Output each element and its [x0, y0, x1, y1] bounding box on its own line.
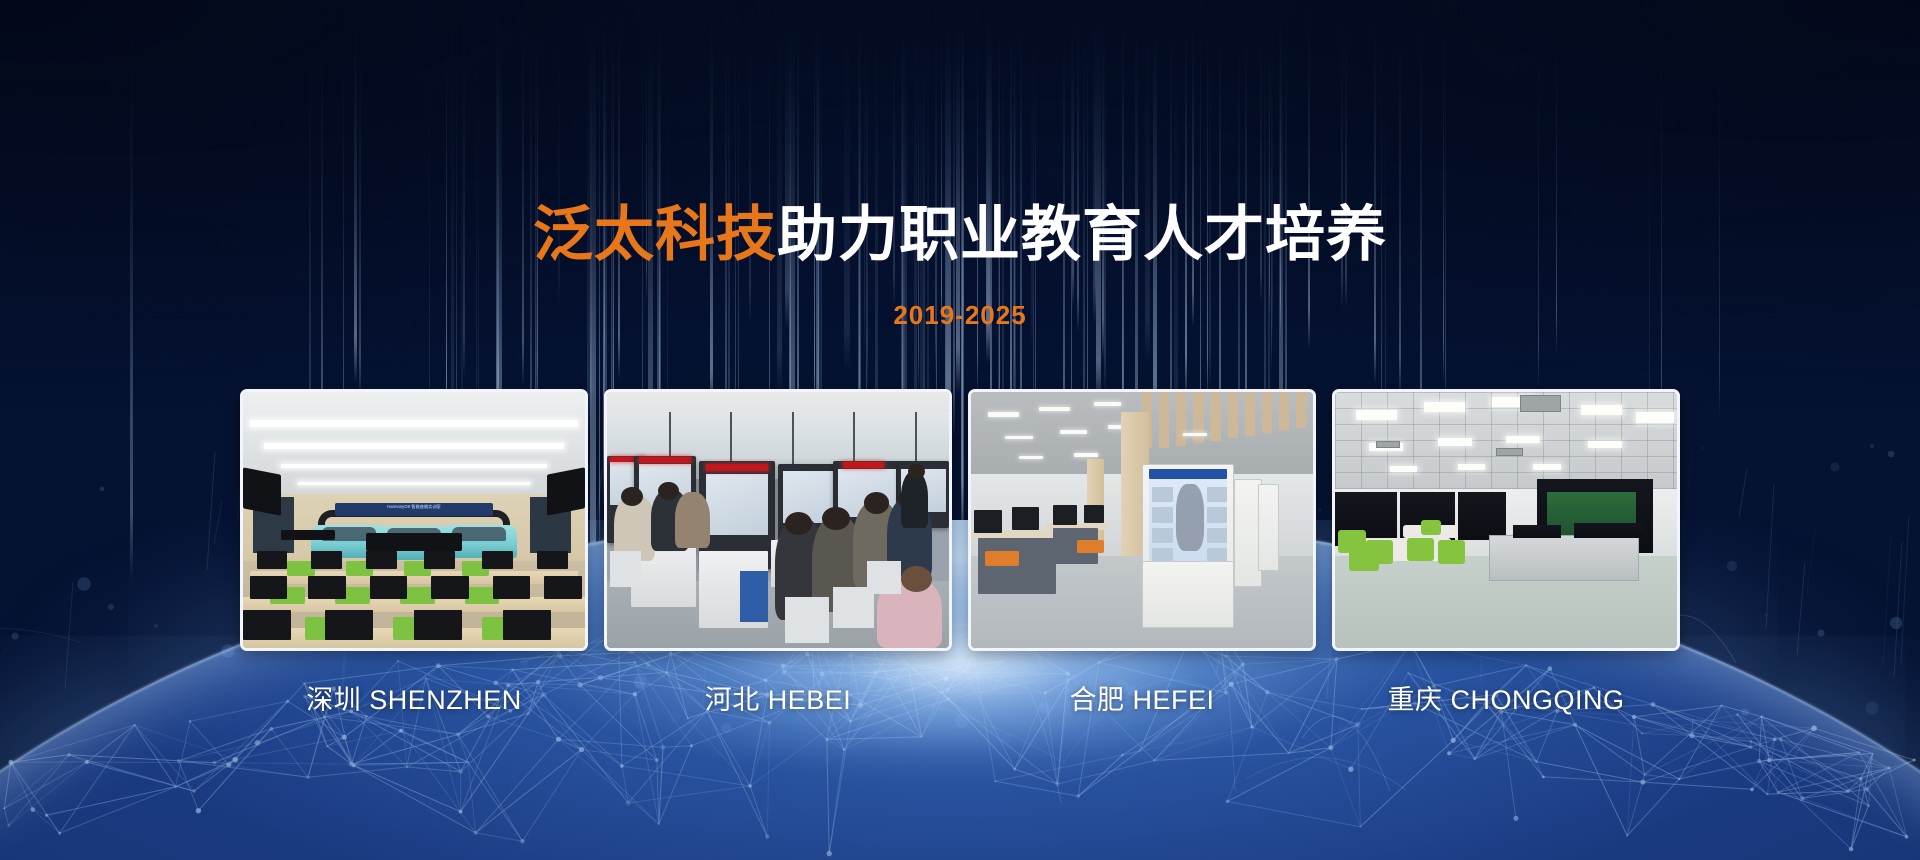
gallery-photo-hebei[interactable]	[604, 389, 952, 651]
caption-shenzhen: 深圳 SHENZHEN	[240, 678, 588, 724]
banner-content: 泛太科技助力职业教育人才培养 2019-2025 HarmonyOS 智能座舱实…	[0, 0, 1920, 860]
subtitle-year-range: 2019-2025	[0, 300, 1920, 331]
page-title: 泛太科技助力职业教育人才培养	[0, 205, 1920, 265]
photo-scene-hebei	[607, 392, 949, 648]
gallery-photo-chongqing[interactable]	[1332, 389, 1680, 651]
title-rest: 助力职业教育人才培养	[777, 201, 1387, 268]
caption-hebei: 河北 HEBEI	[604, 678, 952, 724]
photo-scene-shenzhen: HarmonyOS 智能座舱实训室	[243, 392, 585, 648]
photo-scene-chongqing	[1335, 392, 1677, 648]
caption-chongqing: 重庆 CHONGQING	[1332, 678, 1680, 724]
gallery-photo-hefei[interactable]	[968, 389, 1316, 651]
photo-captions: 深圳 SHENZHEN 河北 HEBEI 合肥 HEFEI 重庆 CHONGQI…	[240, 678, 1680, 724]
photo-gallery: HarmonyOS 智能座舱实训室	[240, 389, 1680, 651]
caption-hefei: 合肥 HEFEI	[968, 678, 1316, 724]
title-brand: 泛太科技	[533, 201, 777, 268]
gallery-photo-shenzhen[interactable]: HarmonyOS 智能座舱实训室	[240, 389, 588, 651]
photo1-banner-text: HarmonyOS 智能座舱实训室	[335, 503, 492, 511]
photo-scene-hefei	[971, 392, 1313, 648]
